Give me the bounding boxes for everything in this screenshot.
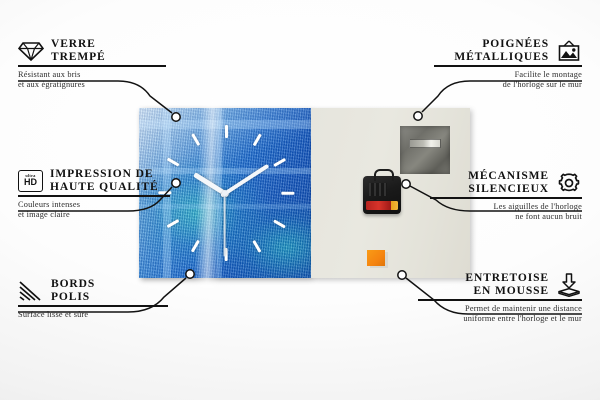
callout-description: Résistant aux bris et aux égratignures [18,70,166,91]
title-line-2: MÉTALLIQUES [454,51,549,63]
divider [434,65,582,66]
hanger-keyhole-slot [409,139,441,148]
ultra-hd-icon: ultra HD [18,170,43,192]
divider [430,197,582,198]
desc-line-1: Permet de maintenir une distance [465,304,582,313]
divider [418,299,582,300]
callout-title: BORDS POLIS [51,278,95,303]
gear-icon [556,171,582,195]
title-line-1: MÉCANISME [468,170,549,182]
hour-marker [225,125,228,138]
callout-description: Facilite le montage de l'horloge sur le … [434,70,582,91]
callout-header: ultra HD IMPRESSION DE HAUTE QUALITÉ [18,168,170,193]
metal-hanger-plate [400,126,450,174]
callout-title: IMPRESSION DE HAUTE QUALITÉ [50,168,159,193]
callout-title: VERRE TREMPÉ [51,38,106,63]
title-line-1: BORDS [51,278,95,290]
callout-title: MÉCANISME SILENCIEUX [468,170,549,195]
mechanism-detail [369,183,387,196]
callout-bords-polis: BORDS POLIS Surface lisse et sûre [18,278,168,320]
desc-line-1: Surface lisse et sûre [18,310,88,319]
title-line-2: HAUTE QUALITÉ [50,181,159,193]
callout-header: BORDS POLIS [18,278,168,303]
callout-entretoise-en-mousse: ENTRETOISE EN MOUSSE Permet de maintenir… [418,272,582,325]
desc-line-1: Les aiguilles de l'horloge [494,202,583,211]
infographic-canvas: VERRE TREMPÉ Résistant aux bris et aux é… [0,0,600,400]
title-line-1: ENTRETOISE [465,272,549,284]
desc-line-1: Couleurs intenses [18,200,80,209]
callout-title: POIGNÉES MÉTALLIQUES [454,38,549,63]
callout-description: Surface lisse et sûre [18,310,168,321]
mechanism-battery [366,201,398,210]
callout-description: Les aiguilles de l'horloge ne font aucun… [430,202,582,223]
title-line-2: EN MOUSSE [473,285,549,297]
desc-line-2: ne font aucun bruit [515,212,582,221]
hour-marker [253,240,262,253]
title-line-1: POIGNÉES [482,38,549,50]
title-line-1: IMPRESSION DE [50,168,153,180]
desc-line-2: uniforme entre l'horloge et le mur [463,314,582,323]
hour-marker [167,158,180,167]
foam-spacer-pad [367,250,385,266]
callout-verre-trempe: VERRE TREMPÉ Résistant aux bris et aux é… [18,38,166,91]
clock-center-cap [222,190,228,196]
title-line-2: TREMPÉ [51,51,106,63]
hour-marker [253,133,262,146]
desc-line-2: de l'horloge sur le mur [503,80,582,89]
clock-mechanism [363,176,401,214]
hour-marker [281,192,294,195]
desc-line-2: et aux égratignures [18,80,85,89]
callout-description: Couleurs intenses et image claire [18,200,170,221]
callout-header: ENTRETOISE EN MOUSSE [418,272,582,297]
polished-edge-icon [18,280,44,302]
ultra-hd-big-text: HD [24,178,37,187]
picture-frame-hanger-icon [556,40,582,62]
foam-spacer-icon [556,273,582,297]
callout-header: VERRE TREMPÉ [18,38,166,63]
desc-line-2: et image claire [18,210,70,219]
mechanism-hanging-loop [374,169,394,181]
divider [18,305,168,306]
callout-poignees-metalliques: POIGNÉES MÉTALLIQUES Facilite le montage… [434,38,582,91]
desc-line-1: Facilite le montage [515,70,582,79]
callout-title: ENTRETOISE EN MOUSSE [465,272,549,297]
divider [18,65,166,66]
callout-description: Permet de maintenir une distance uniform… [418,304,582,325]
callout-mecanisme-silencieux: MÉCANISME SILENCIEUX Les aiguilles de l'… [430,170,582,223]
hour-marker [191,133,200,146]
hour-marker [273,219,286,228]
product-image [139,108,470,278]
clock-second-hand [224,190,226,256]
divider [18,195,170,196]
title-line-1: VERRE [51,38,96,50]
desc-line-1: Résistant aux bris [18,70,81,79]
title-line-2: POLIS [51,291,90,303]
callout-header: POIGNÉES MÉTALLIQUES [434,38,582,63]
title-line-2: SILENCIEUX [468,183,549,195]
hour-marker [191,240,200,253]
diamond-icon [18,40,44,62]
callout-header: MÉCANISME SILENCIEUX [430,170,582,195]
hour-marker [273,158,286,167]
callout-impression-haute-qualite: ultra HD IMPRESSION DE HAUTE QUALITÉ Cou… [18,168,170,221]
